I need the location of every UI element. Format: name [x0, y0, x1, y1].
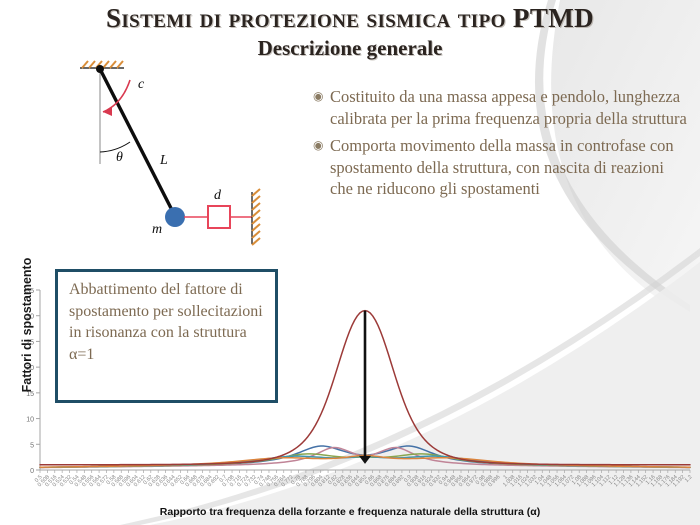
- label-damper: d: [214, 188, 222, 203]
- callout-box: Abbattimento del fattore di spostamento …: [55, 269, 278, 403]
- title-block: Sistemi di protezione sismica tipo PTMD …: [0, 4, 700, 60]
- list-item-label: Costituito da una massa appesa e pendolo…: [330, 86, 691, 129]
- label-length: L: [159, 153, 168, 168]
- x-axis-tick-labels: 0.50.5080.5160.5240.5320.540.5480.5560.5…: [34, 474, 694, 488]
- label-angle: θ: [116, 150, 123, 165]
- wall-support-icon: [252, 189, 260, 245]
- page-title: Sistemi di protezione sismica tipo PTMD: [0, 4, 700, 33]
- label-damping: c: [138, 77, 145, 92]
- callout-text: Abbattimento del fattore di spostamento …: [69, 279, 265, 365]
- svg-text:0: 0: [30, 468, 34, 475]
- pendulum-diagram: c θ L m d: [62, 56, 312, 256]
- pendulum-mass: [165, 207, 185, 227]
- x-axis-title: Rapporto tra frequenza della forzante e …: [0, 506, 700, 518]
- bullet-dot-icon: ◉: [313, 86, 330, 107]
- svg-text:1.2: 1.2: [684, 474, 694, 484]
- list-item-label: Comporta movimento della massa in contro…: [330, 135, 691, 200]
- resonance-arrow-annotation: [359, 311, 371, 464]
- svg-text:5: 5: [30, 442, 34, 449]
- pivot-point: [96, 65, 104, 73]
- bullet-dot-icon: ◉: [313, 135, 330, 156]
- list-item: ◉ Costituito da una massa appesa e pendo…: [313, 86, 691, 129]
- y-axis-title: Fattori di spostamento: [20, 230, 34, 420]
- damper-box: [208, 206, 230, 228]
- label-mass: m: [152, 222, 162, 237]
- bullet-list: ◉ Costituito da una massa appesa e pendo…: [313, 86, 691, 206]
- angle-arc: [100, 142, 130, 152]
- list-item: ◉ Comporta movimento della massa in cont…: [313, 135, 691, 200]
